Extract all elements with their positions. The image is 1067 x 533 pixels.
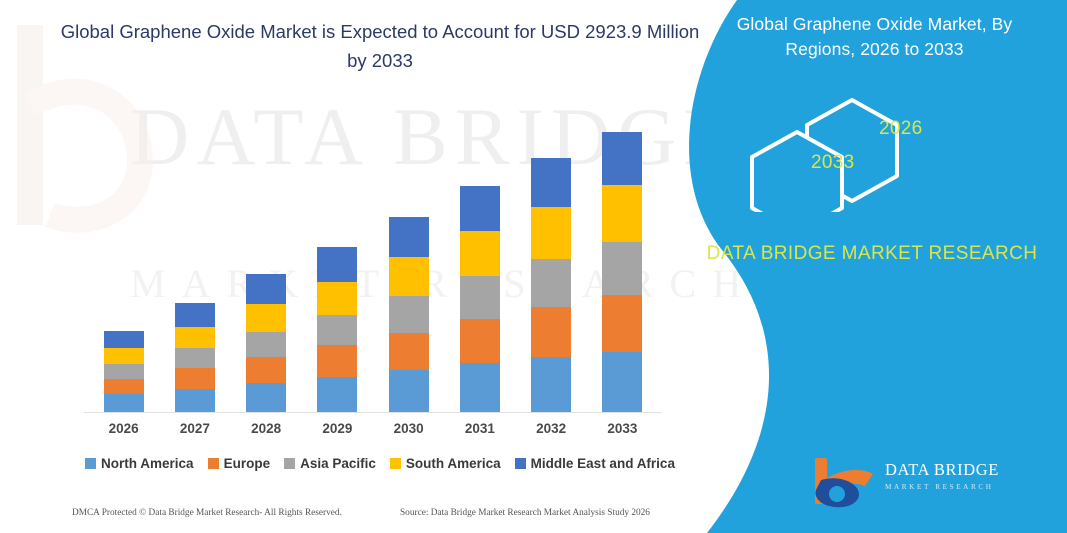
legend-swatch — [515, 458, 526, 469]
bar-segment — [175, 303, 215, 327]
x-axis-line — [84, 412, 662, 413]
chart-area: Global Graphene Oxide Market is Expected… — [0, 0, 760, 533]
x-axis-tick-label: 2028 — [231, 421, 301, 436]
legend-label: Asia Pacific — [300, 456, 376, 471]
bar-segment — [460, 319, 500, 363]
hexagon-shapes — [737, 92, 1067, 212]
bar-segment — [175, 368, 215, 389]
bar-segment — [602, 352, 642, 412]
bar-segment — [175, 389, 215, 412]
bar-segment — [531, 259, 571, 307]
x-axis-tick-label: 2032 — [516, 421, 586, 436]
bar-column — [175, 303, 215, 412]
brand-logo-secondary: MARKET RESEARCH — [885, 483, 999, 491]
bar-segment — [389, 257, 429, 297]
hexagon-label-front: 2033 — [811, 152, 854, 174]
bar-segment — [104, 394, 144, 412]
legend-label: North America — [101, 456, 194, 471]
bar-segment — [246, 274, 286, 303]
bar-segment — [104, 379, 144, 395]
legend-item[interactable]: South America — [390, 456, 501, 471]
legend-swatch — [284, 458, 295, 469]
legend-item[interactable]: Asia Pacific — [284, 456, 376, 471]
x-axis-labels: 20262027202820292030203120322033 — [88, 421, 658, 443]
chart-legend: North AmericaEuropeAsia PacificSouth Ame… — [60, 456, 700, 471]
bar-segment — [531, 158, 571, 207]
x-axis-tick-label: 2030 — [374, 421, 444, 436]
bar-segment — [389, 370, 429, 412]
legend-swatch — [208, 458, 219, 469]
stacked-bar-plot — [88, 120, 658, 412]
bar-column — [389, 217, 429, 412]
bar-segment — [317, 282, 357, 315]
infographic-canvas: Global Graphene Oxide Market is Expected… — [0, 0, 1067, 533]
bar-segment — [389, 296, 429, 333]
brand-panel: Global Graphene Oxide Market, By Regions… — [667, 0, 1067, 533]
bar-segment — [531, 207, 571, 259]
footer: DMCA Protected © Data Bridge Market Rese… — [0, 508, 742, 530]
legend-item[interactable]: North America — [85, 456, 194, 471]
bar-segment — [317, 345, 357, 376]
x-axis-tick-label: 2026 — [89, 421, 159, 436]
bar-column — [531, 158, 571, 412]
bar-segment — [317, 315, 357, 345]
bar-segment — [460, 276, 500, 319]
bar-segment — [602, 132, 642, 185]
bar-column — [317, 247, 357, 412]
bar-segment — [246, 332, 286, 357]
bar-segment — [531, 357, 571, 412]
x-axis-tick-label: 2033 — [587, 421, 657, 436]
bar-column — [104, 331, 144, 412]
panel-title: Global Graphene Oxide Market, By Regions… — [702, 12, 1047, 63]
bar-segment — [389, 333, 429, 371]
brand-logo-primary: DATA BRIDGE — [885, 460, 999, 480]
bar-segment — [460, 186, 500, 231]
bar-column — [460, 186, 500, 412]
bar-segment — [602, 295, 642, 351]
bar-segment — [317, 247, 357, 281]
panel-content: Global Graphene Oxide Market, By Regions… — [667, 0, 1067, 533]
legend-label: Europe — [224, 456, 271, 471]
legend-item[interactable]: Middle East and Africa — [515, 456, 675, 471]
bar-segment — [246, 357, 286, 383]
bar-segment — [246, 304, 286, 332]
bar-segment — [175, 348, 215, 368]
bar-column — [246, 274, 286, 412]
footer-source: Source: Data Bridge Market Research Mark… — [400, 508, 650, 518]
bar-column — [602, 132, 642, 412]
legend-swatch — [390, 458, 401, 469]
legend-label: Middle East and Africa — [531, 456, 675, 471]
bar-segment — [602, 242, 642, 295]
x-axis-tick-label: 2027 — [160, 421, 230, 436]
bar-segment — [104, 348, 144, 364]
hexagon-badges: 2026 2033 — [737, 92, 1067, 212]
x-axis-tick-label: 2029 — [302, 421, 372, 436]
brand-logo-mark — [807, 452, 883, 510]
bar-segment — [460, 363, 500, 412]
legend-swatch — [85, 458, 96, 469]
brand-logo: DATA BRIDGE MARKET RESEARCH — [807, 452, 1057, 514]
bar-segment — [389, 217, 429, 257]
hexagon-label-back: 2026 — [879, 118, 922, 140]
bar-segment — [602, 185, 642, 242]
legend-label: South America — [406, 456, 501, 471]
legend-item[interactable]: Europe — [208, 456, 271, 471]
bar-segment — [175, 327, 215, 349]
bar-segment — [460, 231, 500, 277]
bar-segment — [104, 364, 144, 379]
brand-name: DATA BRIDGE MARKET RESEARCH — [697, 240, 1047, 269]
bar-segment — [531, 307, 571, 357]
bar-segment — [246, 383, 286, 412]
x-axis-tick-label: 2031 — [445, 421, 515, 436]
bar-segment — [104, 331, 144, 349]
brand-logo-text: DATA BRIDGE MARKET RESEARCH — [885, 460, 999, 491]
footer-copyright: DMCA Protected © Data Bridge Market Rese… — [72, 508, 342, 518]
bar-segment — [317, 377, 357, 412]
